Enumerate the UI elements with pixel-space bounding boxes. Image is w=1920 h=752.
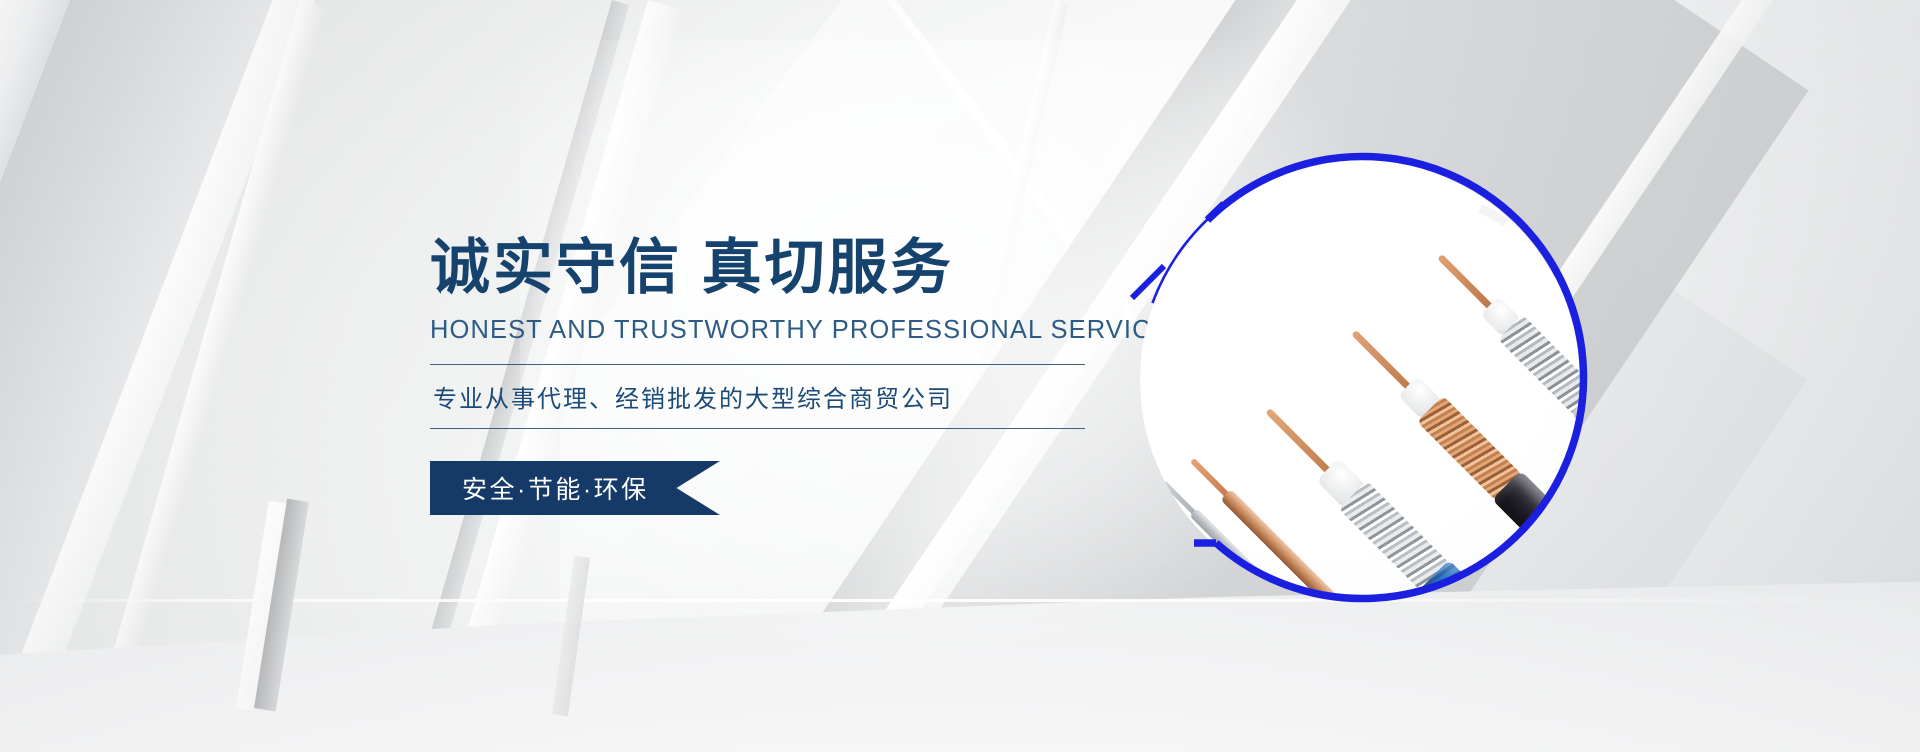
divider-bottom <box>430 428 1085 429</box>
banner-subtitle-chinese: 专业从事代理、经销批发的大型综合商贸公司 <box>430 365 1090 428</box>
hero-banner: 诚实守信 真切服务 HONEST AND TRUSTWORTHY PROFESS… <box>0 0 1920 752</box>
broken-circle-ring-icon <box>1128 148 1592 612</box>
product-medallion: RG-6/U 75Ω <box>1128 148 1592 612</box>
feature-tag-label: 安全·节能·环保 <box>430 470 649 506</box>
banner-subtitle-english: HONEST AND TRUSTWORTHY PROFESSIONAL SERV… <box>430 316 1090 345</box>
banner-copy-block: 诚实守信 真切服务 HONEST AND TRUSTWORTHY PROFESS… <box>430 238 1090 515</box>
divider-top <box>430 364 1085 365</box>
banner-headline: 诚实守信 真切服务 <box>430 238 1090 298</box>
ring-main-arc <box>1208 157 1584 599</box>
ring-accent-line-left <box>1132 266 1164 298</box>
feature-tag-ribbon[interactable]: 安全·节能·环保 <box>430 461 720 515</box>
